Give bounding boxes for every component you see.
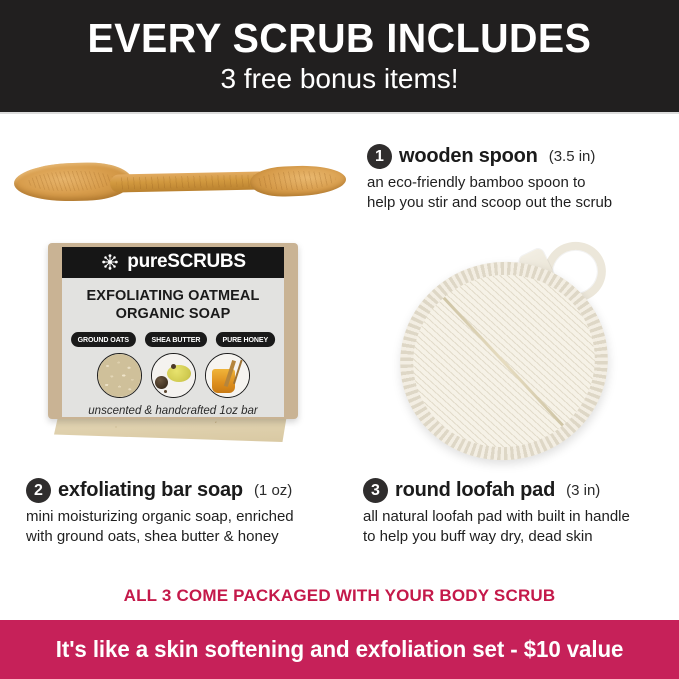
- spoon-graphic: [14, 162, 344, 202]
- loofah-pad-image: [398, 240, 648, 470]
- number-badge-2: 2: [26, 478, 51, 503]
- header-banner: EVERY SCRUB INCLUDES 3 free bonus items!: [0, 0, 679, 112]
- item-3-description: all natural loofah pad with built in han…: [363, 507, 673, 547]
- page-subtitle: 3 free bonus items!: [220, 64, 458, 95]
- header-divider: [0, 112, 679, 114]
- spoon-handle: [110, 171, 268, 192]
- soap-heading-line-1: EXFOLIATING OATMEAL: [87, 287, 260, 305]
- page-title: EVERY SCRUB INCLUDES: [88, 17, 592, 60]
- item-2-size: (1 oz): [254, 482, 292, 499]
- item-3-description-line-2: to help you buff way dry, dead skin: [363, 527, 673, 547]
- item-3-size: (3 in): [566, 482, 600, 499]
- value-banner: It's like a skin softening and exfoliati…: [0, 620, 679, 679]
- item-2-description-line-1: mini moisturizing organic soap, enriched: [26, 507, 346, 527]
- soap-label-footer: unscented & handcrafted 1oz bar: [88, 405, 257, 417]
- item-1-text-block: 1 wooden spoon (3.5 in) an eco-friendly …: [367, 144, 672, 213]
- wooden-spoon-image: [8, 142, 353, 222]
- ingredient-badges: GROUND OATS SHEA BUTTER PURE HONEY: [69, 332, 276, 347]
- shea-butter-photo-fill: [152, 354, 195, 397]
- soap-package-label: pureSCRUBS EXFOLIATING OATMEAL ORGANIC S…: [62, 247, 284, 417]
- item-3-title: round loofah pad: [395, 479, 555, 502]
- brand-bar: pureSCRUBS: [62, 247, 284, 278]
- packaging-note: ALL 3 COME PACKAGED WITH YOUR BODY SCRUB: [0, 586, 679, 606]
- item-1-description: an eco-friendly bamboo spoon to help you…: [367, 173, 672, 213]
- ingredient-badge-shea-butter: SHEA BUTTER: [145, 332, 207, 347]
- item-1-size: (3.5 in): [549, 148, 596, 165]
- soap-package-wrapper: pureSCRUBS EXFOLIATING OATMEAL ORGANIC S…: [48, 243, 298, 419]
- number-badge-3: 3: [363, 478, 388, 503]
- item-3-heading: 3 round loofah pad (3 in): [363, 478, 673, 503]
- number-badge-1: 1: [367, 144, 392, 169]
- ingredient-photos: [97, 353, 250, 398]
- item-3-text-block: 3 round loofah pad (3 in) all natural lo…: [363, 478, 673, 547]
- soap-heading-line-2: ORGANIC SOAP: [87, 305, 260, 323]
- brand-name: pureSCRUBS: [127, 251, 245, 273]
- soap-heading: EXFOLIATING OATMEAL ORGANIC SOAP: [87, 287, 260, 323]
- item-2-description-line-2: with ground oats, shea butter & honey: [26, 527, 346, 547]
- oats-photo-fill: [98, 354, 141, 397]
- mandala-logo-icon: [100, 252, 120, 272]
- spoon-handle-end: [250, 164, 347, 197]
- value-banner-text: It's like a skin softening and exfoliati…: [56, 636, 624, 663]
- item-2-title: exfoliating bar soap: [58, 479, 243, 502]
- bar-soap-image: pureSCRUBS EXFOLIATING OATMEAL ORGANIC S…: [48, 243, 308, 458]
- oats-photo: [97, 353, 142, 398]
- honey-jar-photo-fill: [206, 354, 249, 397]
- item-1-description-line-2: help you stir and scoop out the scrub: [367, 193, 672, 213]
- item-1-description-line-1: an eco-friendly bamboo spoon to: [367, 173, 672, 193]
- ingredient-badge-ground-oats: GROUND OATS: [71, 332, 135, 347]
- shea-butter-photo: [151, 353, 196, 398]
- item-2-heading: 2 exfoliating bar soap (1 oz): [26, 478, 346, 503]
- loofah-pad-face: [399, 261, 608, 462]
- item-1-heading: 1 wooden spoon (3.5 in): [367, 144, 672, 169]
- loofah-diagonal-seam: [426, 279, 582, 446]
- item-2-text-block: 2 exfoliating bar soap (1 oz) mini moist…: [26, 478, 346, 547]
- item-1-title: wooden spoon: [399, 145, 538, 168]
- item-3-description-line-1: all natural loofah pad with built in han…: [363, 507, 673, 527]
- honey-jar-photo: [205, 353, 250, 398]
- item-2-description: mini moisturizing organic soap, enriched…: [26, 507, 346, 547]
- ingredient-badge-pure-honey: PURE HONEY: [216, 332, 275, 347]
